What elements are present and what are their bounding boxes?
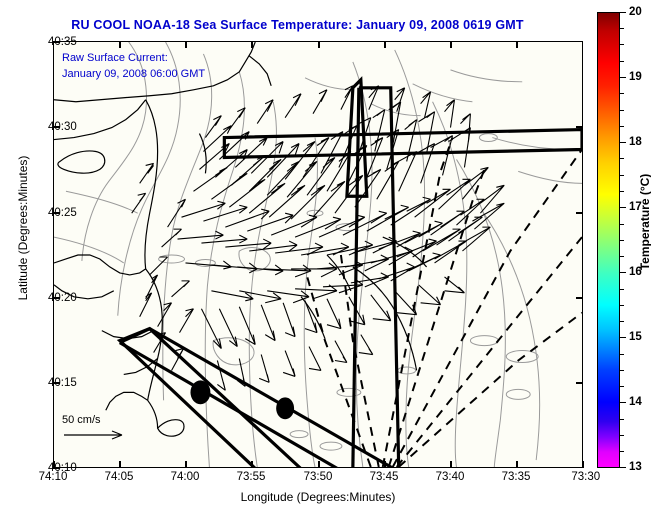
xtick-3 (251, 461, 253, 468)
station-marker-1 (190, 380, 210, 404)
ytick-right-2 (576, 297, 583, 299)
cbtick-label-20: 20 (629, 6, 642, 18)
scale-bar-legend: 50 cm/s (62, 414, 132, 445)
cbtick-minor (620, 240, 624, 241)
cbtick-14 (620, 402, 626, 403)
figure-canvas: RU COOL NOAA-18 Sea Surface Temperature:… (0, 0, 651, 518)
cbtick-minor (620, 224, 624, 225)
cbtick-minor (620, 419, 624, 420)
cbtick-17 (620, 207, 626, 208)
xtick-4 (318, 461, 320, 468)
cbtick-minor (620, 435, 624, 436)
plot-area: Raw Surface Current: January 09, 2008 06… (53, 41, 583, 468)
cbtick-label-18: 18 (629, 136, 642, 148)
ytick-label-3: 40:25 (48, 207, 77, 219)
cbtick-minor (620, 110, 624, 111)
xtick-7 (516, 461, 518, 468)
map-vector-layer (54, 42, 582, 467)
cbtick-13 (620, 467, 626, 468)
xtick-top-3 (251, 41, 253, 48)
cbtick-minor (620, 321, 624, 322)
coastline (54, 42, 427, 436)
cbtick-label-19: 19 (629, 71, 642, 83)
xtick-top-6 (450, 41, 452, 48)
ytick-label-5: 40:35 (48, 36, 77, 48)
ytick-right-1 (576, 382, 583, 384)
scale-bar-arrow-icon (62, 428, 132, 442)
annotation-block: Raw Surface Current: January 09, 2008 06… (62, 50, 205, 82)
cbtick-minor (620, 305, 624, 306)
y-axis-label: Latitude (Degrees:Minutes) (16, 118, 30, 338)
ytick-label-2: 40:20 (48, 292, 77, 304)
ytick-label-1: 40:15 (48, 377, 77, 389)
xtick-label-3: 73:55 (237, 471, 266, 483)
cbtick-20 (620, 12, 626, 13)
xtick-top-4 (318, 41, 320, 48)
cbtick-minor (620, 451, 624, 452)
xtick-1 (119, 461, 121, 468)
survey-boxes (120, 80, 582, 467)
survey-box-diagonal (120, 329, 552, 467)
xtick-top-7 (516, 41, 518, 48)
annotation-line-2: January 09, 2008 06:00 GMT (62, 66, 205, 82)
cbtick-minor (620, 61, 624, 62)
ytick-right-3 (576, 212, 583, 214)
xtick-label-8: 73:30 (571, 471, 600, 483)
cbtick-16 (620, 272, 626, 273)
cbtick-label-13: 13 (629, 461, 642, 473)
station-marker-2 (276, 397, 294, 419)
x-axis-label: Longitude (Degrees:Minutes) (53, 490, 583, 504)
cbtick-minor (620, 28, 624, 29)
xtick-label-6: 73:40 (436, 471, 465, 483)
cbtick-minor (620, 158, 624, 159)
xtick-top-2 (185, 41, 187, 48)
survey-box-vertical (353, 88, 399, 467)
cbtick-label-15: 15 (629, 331, 642, 343)
cbtick-minor (620, 93, 624, 94)
xtick-label-7: 73:35 (502, 471, 531, 483)
cbtick-minor (620, 126, 624, 127)
cbtick-19 (620, 77, 626, 78)
xtick-label-5: 73:45 (370, 471, 399, 483)
scale-bar-label: 50 cm/s (62, 414, 132, 426)
cbtick-minor (620, 370, 624, 371)
cbtick-minor (620, 354, 624, 355)
annotation-line-1: Raw Surface Current: (62, 50, 205, 66)
chart-title: RU COOL NOAA-18 Sea Surface Temperature:… (0, 18, 595, 32)
xtick-label-4: 73:50 (304, 471, 333, 483)
xtick-8 (582, 461, 584, 468)
cbtick-minor (620, 256, 624, 257)
colorbar (597, 12, 620, 468)
ytick-label-4: 40:30 (48, 121, 77, 133)
cbtick-15 (620, 337, 626, 338)
ytick-right-4 (576, 126, 583, 128)
cbtick-minor (620, 386, 624, 387)
colorbar-label: Temperature (°C) (638, 162, 651, 282)
xtick-label-2: 74:00 (171, 471, 200, 483)
cbtick-minor (620, 289, 624, 290)
xtick-2 (185, 461, 187, 468)
xtick-6 (450, 461, 452, 468)
cbtick-18 (620, 142, 626, 143)
ytick-label-0: 40:10 (48, 462, 77, 474)
xtick-top-5 (384, 41, 386, 48)
cbtick-minor (620, 44, 624, 45)
xtick-label-1: 74:05 (105, 471, 134, 483)
cbtick-minor (620, 191, 624, 192)
xtick-5 (384, 461, 386, 468)
cbtick-label-14: 14 (629, 396, 642, 408)
xtick-top-1 (119, 41, 121, 48)
cbtick-minor (620, 175, 624, 176)
